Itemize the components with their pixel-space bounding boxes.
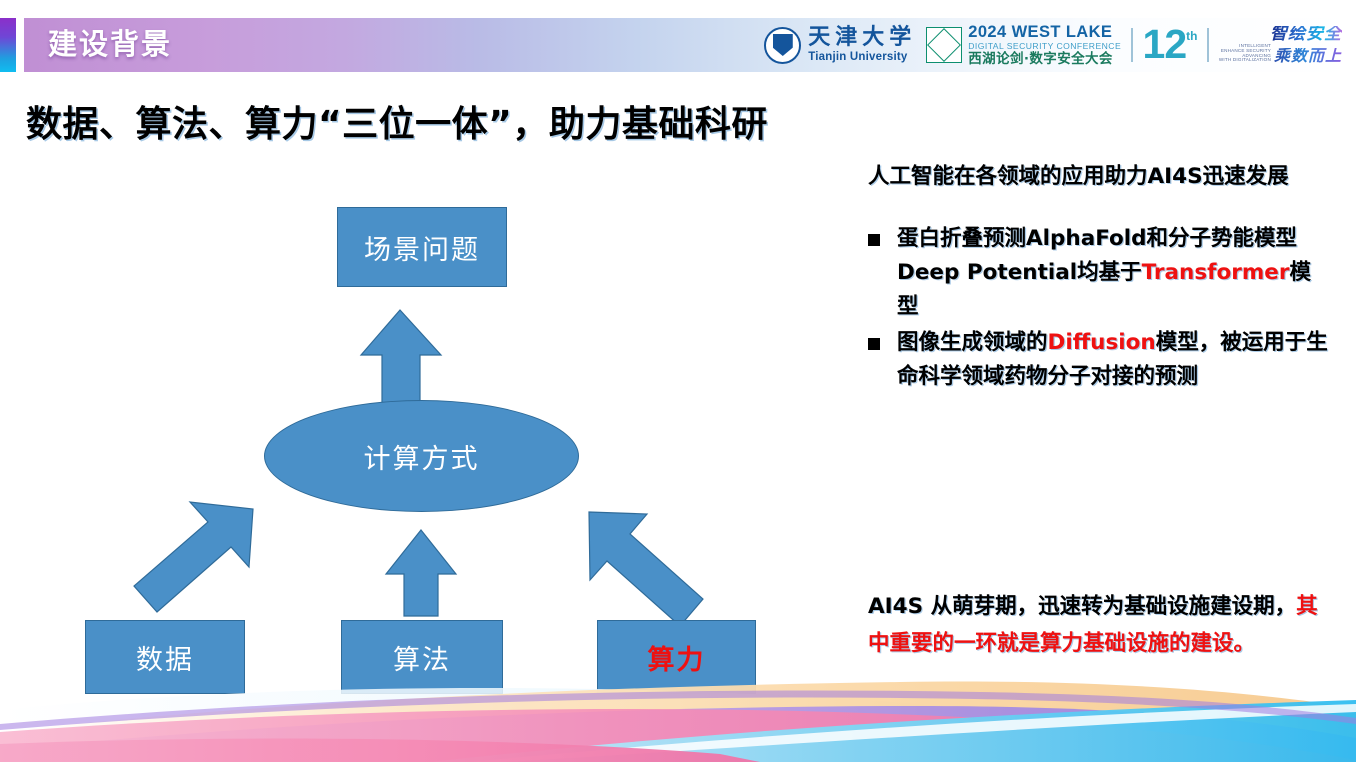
node-scene-problem[interactable]: 场景问题 bbox=[337, 207, 507, 287]
conference-slogan-logo: 智绘安全 INTELLIGENTENHANCE SECURITYADVANCIN… bbox=[1219, 26, 1342, 63]
ribbon-white-streak bbox=[470, 704, 1356, 762]
tju-name-en: Tianjin University bbox=[808, 52, 907, 64]
bullet-1-highlight: Transformer bbox=[1142, 260, 1290, 285]
arrow-compute-to-scene bbox=[361, 310, 441, 403]
bullet-2-pre: 图像生成领域的 bbox=[897, 330, 1048, 355]
west-lake-title: 2024 WEST LAKE bbox=[968, 24, 1121, 41]
list-item: 蛋白折叠预测AlphaFold和分子势能模型Deep Potential均基于T… bbox=[868, 222, 1330, 324]
ribbon-purple bbox=[0, 706, 1356, 762]
slogan-row-2: INTELLIGENTENHANCE SECURITYADVANCINGWITH… bbox=[1219, 43, 1342, 63]
node-algorithm[interactable]: 算法 bbox=[341, 620, 503, 694]
edition-suffix: th bbox=[1186, 29, 1197, 43]
arrow-data-to-compute bbox=[134, 502, 253, 612]
logo-divider-1 bbox=[1131, 28, 1132, 62]
right-footer-text: AI4S 从萌芽期，迅速转为基础设施建设期，其中重要的一环就是算力基础设施的建设… bbox=[868, 588, 1338, 662]
edition-badge: 12 th bbox=[1143, 26, 1198, 64]
edition-number: 12 bbox=[1143, 26, 1187, 64]
west-lake-conference-logo: 2024 WEST LAKE DIGITAL SECURITY CONFEREN… bbox=[926, 24, 1121, 67]
header-accent-bar bbox=[0, 18, 16, 72]
triad-diagram: 场景问题 计算方式 数据 算法 算力 bbox=[0, 150, 860, 710]
page-title: 数据、算法、算力“三位一体”，助力基础科研 bbox=[26, 95, 768, 147]
slogan-line-1: 智绘安全 bbox=[1270, 26, 1342, 43]
west-lake-emblem-inner-icon bbox=[927, 28, 961, 62]
node-compute-method[interactable]: 计算方式 bbox=[264, 400, 579, 512]
slogan-sub-text: INTELLIGENTENHANCE SECURITYADVANCINGWITH… bbox=[1219, 44, 1271, 62]
slide: 建设背景 天津大学 Tianjin University 2024 WEST L… bbox=[0, 0, 1356, 762]
node-computing-power[interactable]: 算力 bbox=[597, 620, 756, 694]
tju-seal-icon bbox=[764, 27, 801, 64]
footer-plain: AI4S 从萌芽期，迅速转为基础设施建设期， bbox=[868, 594, 1296, 619]
arrow-algorithm-to-compute bbox=[386, 530, 456, 616]
arrow-power-to-compute bbox=[589, 512, 703, 626]
west-lake-title-cn: 西湖论剑·数字安全大会 bbox=[968, 53, 1121, 67]
ribbon-pink bbox=[0, 709, 1356, 762]
logo-group: 天津大学 Tianjin University 2024 WEST LAKE D… bbox=[764, 19, 1342, 71]
right-text-column: 人工智能在各领域的应用助力AI4S迅速发展 蛋白折叠预测AlphaFold和分子… bbox=[868, 160, 1330, 396]
bullet-2-highlight: Diffusion bbox=[1048, 330, 1156, 355]
tju-name-cn: 天津大学 bbox=[808, 27, 916, 49]
section-tab-label: 建设背景 bbox=[48, 26, 172, 64]
bullet-square-icon bbox=[868, 338, 880, 350]
west-lake-subtitle: DIGITAL SECURITY CONFERENCE bbox=[968, 42, 1121, 51]
ribbon-pink-lower bbox=[0, 739, 760, 762]
tju-shield-icon bbox=[773, 34, 793, 56]
tju-wordmark: 天津大学 Tianjin University bbox=[808, 27, 916, 64]
west-lake-wordmark: 2024 WEST LAKE DIGITAL SECURITY CONFEREN… bbox=[968, 24, 1121, 67]
bullet-text-2: 图像生成领域的Diffusion模型，被运用于生命科学领域药物分子对接的预测 bbox=[897, 326, 1330, 394]
bullet-square-icon bbox=[868, 234, 880, 246]
tianjin-university-logo: 天津大学 Tianjin University bbox=[764, 27, 916, 64]
node-data[interactable]: 数据 bbox=[85, 620, 245, 694]
bullet-text-1: 蛋白折叠预测AlphaFold和分子势能模型Deep Potential均基于T… bbox=[897, 222, 1330, 324]
slogan-line-2: 乘数而上 bbox=[1274, 48, 1342, 64]
right-heading: 人工智能在各领域的应用助力AI4S迅速发展 bbox=[868, 160, 1330, 194]
west-lake-emblem-icon bbox=[926, 27, 962, 63]
logo-divider-2 bbox=[1207, 28, 1208, 62]
bullet-list: 蛋白折叠预测AlphaFold和分子势能模型Deep Potential均基于T… bbox=[868, 222, 1330, 394]
list-item: 图像生成领域的Diffusion模型，被运用于生命科学领域药物分子对接的预测 bbox=[868, 326, 1330, 394]
